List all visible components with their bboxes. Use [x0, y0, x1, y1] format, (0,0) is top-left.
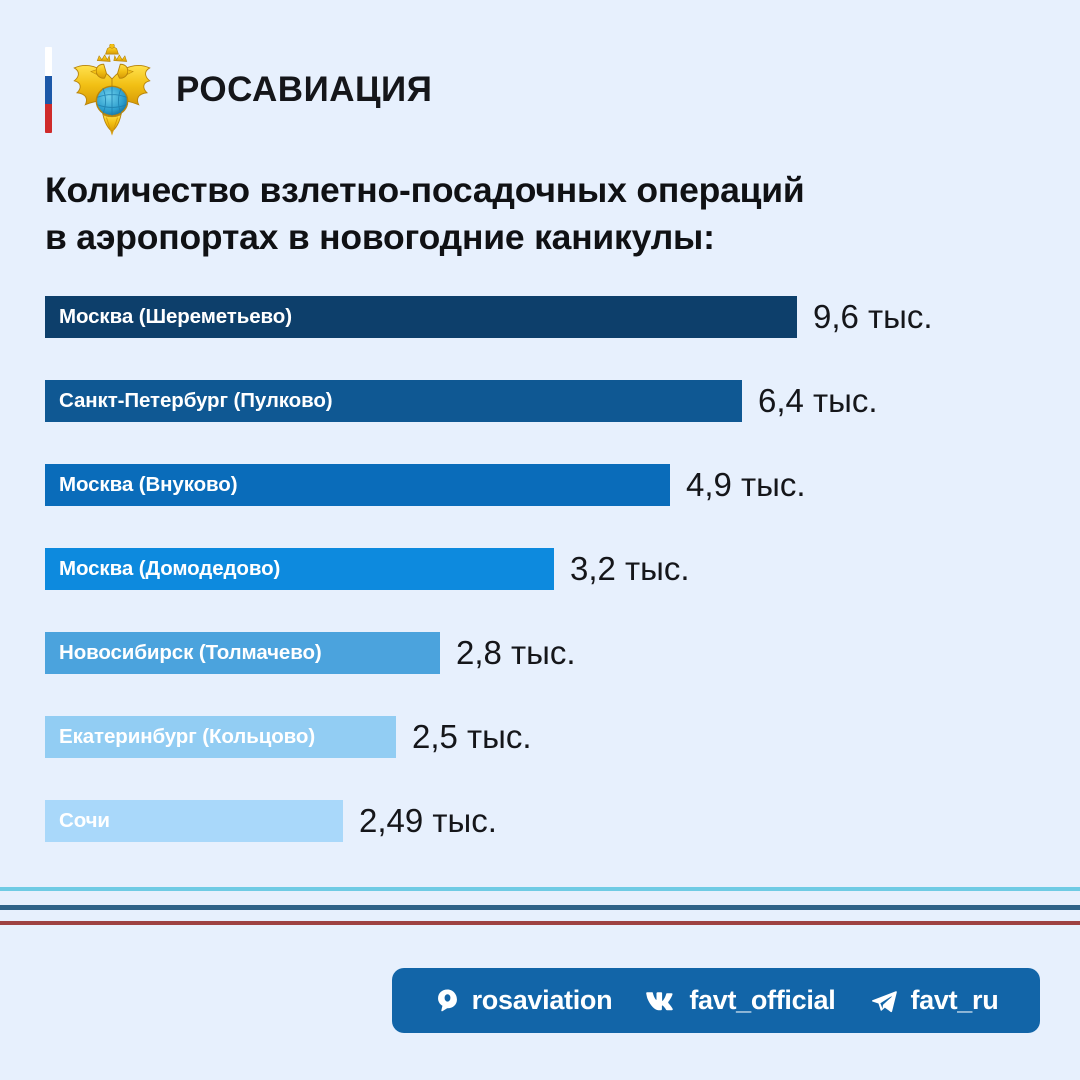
social-label-favt-official: favt_official	[689, 985, 835, 1016]
bar-label: Москва (Шереметьево)	[59, 305, 292, 329]
bar: Новосибирск (Толмачево)	[45, 632, 440, 674]
bar-value-label: 9,6 тыс.	[813, 296, 933, 338]
chart-row: Москва (Внуково)4,9 тыс.	[45, 464, 1035, 548]
page-title-line-1: Количество взлетно-посадочных операций	[45, 167, 1005, 214]
bar-chart: Москва (Шереметьево)9,6 тыс.Санкт-Петерб…	[45, 296, 1035, 884]
flag-stripe-blue	[45, 76, 52, 105]
chart-row: Москва (Домодедово)3,2 тыс.	[45, 548, 1035, 632]
social-label-rosaviation: rosaviation	[472, 985, 613, 1016]
brand-title: РОСАВИАЦИЯ	[176, 70, 432, 110]
russian-flag-bar-icon	[45, 47, 52, 133]
bar-label: Москва (Домодедово)	[59, 557, 280, 581]
bar: Москва (Домодедово)	[45, 548, 554, 590]
bar-value-label: 2,5 тыс.	[412, 716, 532, 758]
page-title-line-2: в аэропортах в новогодние каникулы:	[45, 214, 1005, 261]
bar-label: Санкт-Петербург (Пулково)	[59, 389, 332, 413]
vk-icon	[646, 990, 678, 1012]
bar-value-label: 2,8 тыс.	[456, 632, 576, 674]
chart-row: Москва (Шереметьево)9,6 тыс.	[45, 296, 1035, 380]
bar-label: Москва (Внуково)	[59, 473, 237, 497]
bar: Сочи	[45, 800, 343, 842]
divider-cyan	[0, 887, 1080, 891]
social-link-rosaviation[interactable]: rosaviation	[434, 985, 613, 1016]
social-label-favt-ru: favt_ru	[910, 985, 998, 1016]
russian-coat-of-arms-eagle-icon	[66, 44, 158, 136]
bar-label: Сочи	[59, 809, 110, 833]
bar-value-label: 2,49 тыс.	[359, 800, 497, 842]
flag-stripe-white	[45, 47, 52, 76]
bar: Екатеринбург (Кольцово)	[45, 716, 396, 758]
bar: Москва (Внуково)	[45, 464, 670, 506]
chart-row: Екатеринбург (Кольцово)2,5 тыс.	[45, 716, 1035, 800]
social-link-favt-official[interactable]: favt_official	[646, 985, 835, 1016]
flag-stripe-red	[45, 104, 52, 133]
social-footer: rosaviation favt_official favt_ru	[392, 968, 1040, 1033]
divider-red	[0, 921, 1080, 925]
chart-row: Санкт-Петербург (Пулково)6,4 тыс.	[45, 380, 1035, 464]
max-messenger-icon	[434, 987, 461, 1014]
divider-blue	[0, 905, 1080, 910]
brand-header: РОСАВИАЦИЯ	[45, 45, 432, 135]
chart-row: Сочи2,49 тыс.	[45, 800, 1035, 884]
page-title: Количество взлетно-посадочных операций в…	[45, 167, 1005, 261]
bar-label: Новосибирск (Толмачево)	[59, 641, 322, 665]
telegram-icon	[869, 988, 899, 1014]
bar: Санкт-Петербург (Пулково)	[45, 380, 742, 422]
social-link-favt-ru[interactable]: favt_ru	[869, 985, 998, 1016]
bar-label: Екатеринбург (Кольцово)	[59, 725, 315, 749]
bar-value-label: 4,9 тыс.	[686, 464, 806, 506]
bar-value-label: 6,4 тыс.	[758, 380, 878, 422]
bar: Москва (Шереметьево)	[45, 296, 797, 338]
chart-row: Новосибирск (Толмачево)2,8 тыс.	[45, 632, 1035, 716]
bar-value-label: 3,2 тыс.	[570, 548, 690, 590]
